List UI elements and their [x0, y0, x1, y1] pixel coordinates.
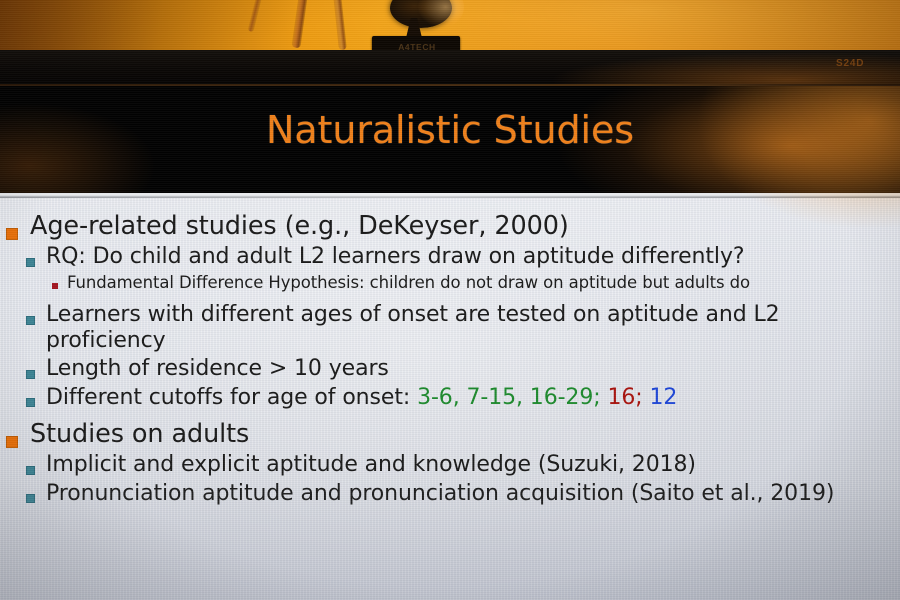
square-bullet-icon: [26, 258, 35, 267]
bullet-text: Pronunciation aptitude and pronunciation…: [46, 481, 834, 507]
bullet-item-level2-cutoffs: Different cutoffs for age of onset: 3-6,…: [26, 385, 900, 411]
square-bullet-icon: [26, 316, 35, 325]
bullet-item-level1: Studies on adults: [6, 420, 900, 449]
square-bullet-icon: [26, 398, 35, 407]
bullet-text: Studies on adults: [30, 420, 249, 449]
square-bullet-icon: [26, 494, 35, 503]
square-bullet-icon: [52, 283, 58, 289]
monitor-bezel-glare: [0, 50, 900, 84]
cutoff-range-green: 3-6, 7-15, 16-29;: [417, 385, 600, 410]
bullet-item-level2: Learners with different ages of onset ar…: [26, 302, 900, 353]
bullet-item-level2: Pronunciation aptitude and pronunciation…: [26, 481, 900, 507]
photograph-of-monitor: A4TECH S24D Naturalistic Studies Age-rel…: [0, 0, 900, 600]
bullet-item-level2: Length of residence > 10 years: [26, 356, 900, 382]
cutoff-value-red: 16;: [607, 385, 642, 410]
bullet-text: RQ: Do child and adult L2 learners draw …: [46, 244, 744, 270]
square-bullet-icon: [6, 436, 18, 448]
slide-title: Naturalistic Studies: [0, 108, 900, 152]
bullet-text: Length of residence > 10 years: [46, 356, 389, 382]
bullet-item-level2: Implicit and explicit aptitude and knowl…: [26, 452, 900, 478]
square-bullet-icon: [26, 370, 35, 379]
bullet-text: Learners with different ages of onset ar…: [46, 302, 900, 353]
monitor-screen: Naturalistic Studies Age-related studies…: [0, 86, 900, 600]
bullet-text: Age-related studies (e.g., DeKeyser, 200…: [30, 212, 569, 241]
bullet-text: Fundamental Difference Hypothesis: child…: [67, 273, 750, 292]
slide-content: Age-related studies (e.g., DeKeyser, 200…: [0, 198, 900, 600]
cutoffs-label: Different cutoffs for age of onset:: [46, 385, 417, 410]
bullet-item-level2: RQ: Do child and adult L2 learners draw …: [26, 244, 900, 270]
bullet-text: Implicit and explicit aptitude and knowl…: [46, 452, 696, 478]
square-bullet-icon: [6, 228, 18, 240]
square-bullet-icon: [26, 466, 35, 475]
bullet-item-level3: Fundamental Difference Hypothesis: child…: [52, 273, 900, 292]
cutoff-value-blue: 12: [649, 385, 677, 410]
monitor-model-label: S24D: [836, 58, 864, 69]
cutoffs-line: Different cutoffs for age of onset: 3-6,…: [46, 385, 677, 411]
bullet-item-level1: Age-related studies (e.g., DeKeyser, 200…: [6, 212, 900, 241]
